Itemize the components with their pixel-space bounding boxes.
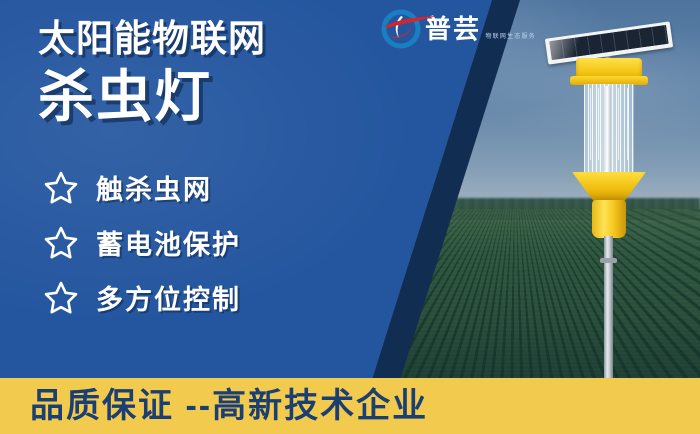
footer-text: 品质保证 --高新技术企业 [30, 384, 428, 428]
brand-logo: 普芸 物联网生态服务 [381, 9, 536, 49]
solar-panel-glare [549, 37, 585, 61]
feature-item-3: 多方位控制 [44, 270, 241, 325]
yellow-funnel [572, 172, 646, 202]
electric-net-wire [590, 88, 591, 160]
star-icon [44, 171, 78, 205]
headline-block: 太阳能物联网 杀虫灯 [38, 18, 338, 128]
feature-item-2: 蓄电池保护 [44, 215, 241, 270]
page-title: 杀虫灯 [38, 66, 338, 128]
feature-item-1: 触杀虫网 [44, 160, 241, 215]
swirl-logo-icon [381, 9, 421, 49]
feature-label-1: 触杀虫网 [96, 168, 212, 207]
electric-net-wire [598, 88, 599, 160]
star-icon [44, 226, 78, 260]
collection-cup [592, 200, 626, 238]
logo-name: 普芸 [425, 14, 481, 44]
electric-net-wire [627, 88, 628, 160]
pole-bracket [600, 258, 617, 263]
footer-bar: 品质保证 --高新技术企业 [0, 378, 700, 434]
feature-list: 触杀虫网 蓄电池保护 多方位控制 [44, 160, 241, 325]
electric-net-wire [618, 88, 619, 160]
feature-label-3: 多方位控制 [96, 278, 241, 317]
product-image-solar-insect-killing-lamp [520, 6, 700, 434]
promo-banner: 太阳能物联网 杀虫灯 触杀虫网 蓄电池保护 [0, 0, 700, 434]
lamp-core [604, 86, 611, 172]
feature-label-2: 蓄电池保护 [96, 223, 241, 262]
star-icon [44, 281, 78, 315]
headline-line-1: 太阳能物联网 [38, 18, 338, 60]
